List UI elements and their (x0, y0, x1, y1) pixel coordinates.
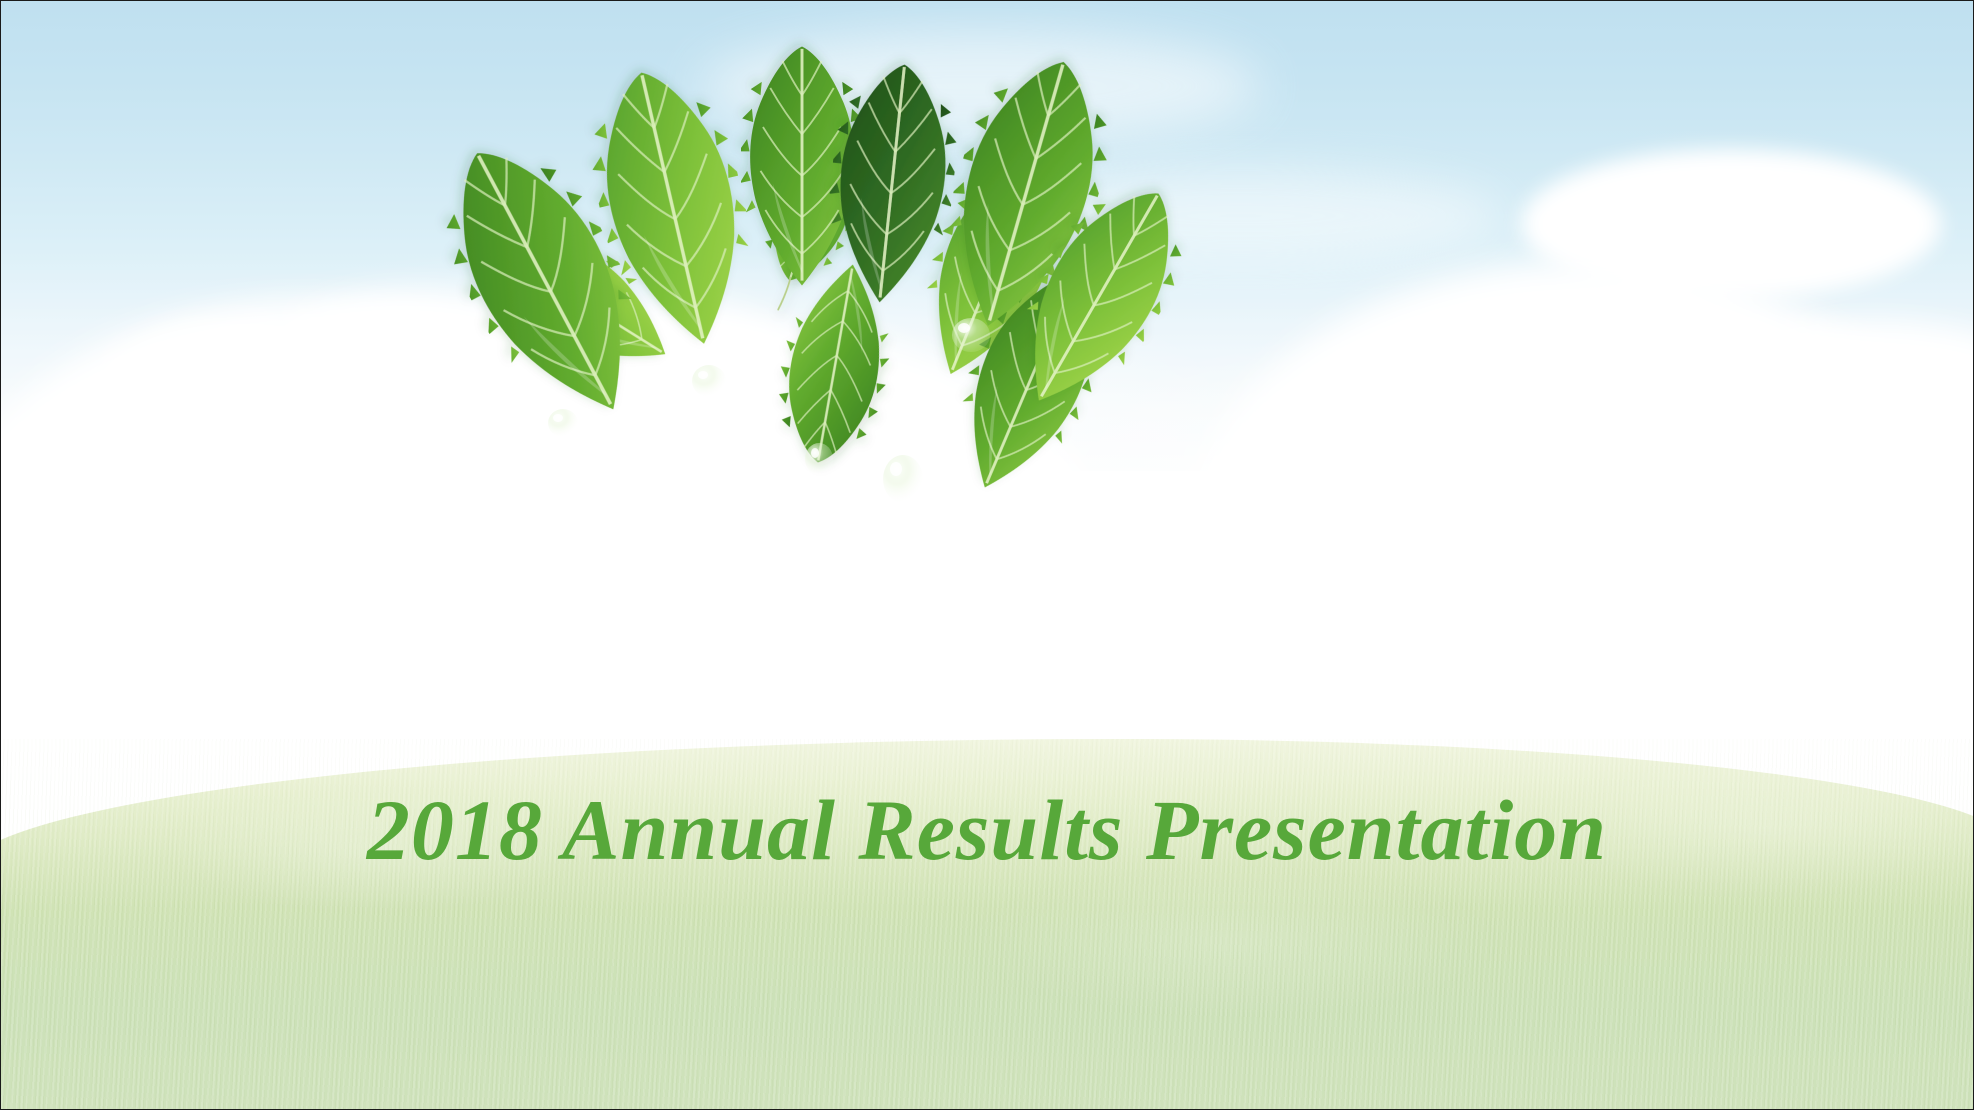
page-title: 2018 Annual Results Presentation (1, 783, 1973, 878)
cloud-mid-puff (521, 301, 821, 461)
cloud-wisp-mid (981, 171, 1501, 261)
leaf-fade-mask (381, 501, 1601, 571)
presentation-slide: 2018 Annual Results Presentation (0, 0, 1974, 1110)
cloud-wisp-top (701, 31, 1261, 141)
